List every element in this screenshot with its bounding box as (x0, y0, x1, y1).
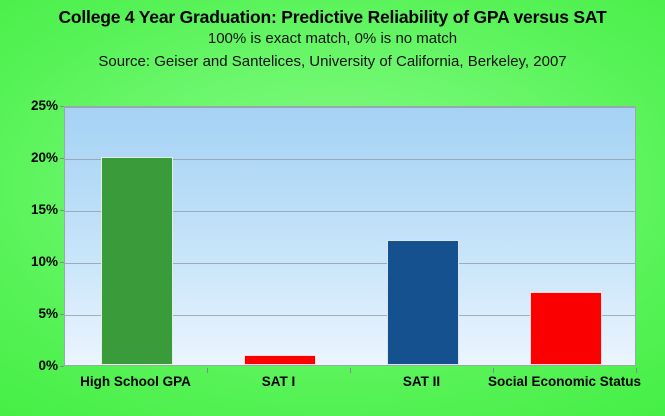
x-axis-tick-label: Social Economic Status (488, 374, 641, 389)
y-axis-tick-label: 5% (0, 306, 58, 321)
chart-root: College 4 Year Graduation: Predictive Re… (0, 0, 665, 416)
bar-high-school-gpa[interactable] (101, 157, 173, 365)
x-axis-tick-label: SAT II (403, 374, 440, 389)
bar-social-economic-status[interactable] (530, 292, 602, 365)
page-title: College 4 Year Graduation: Predictive Re… (0, 6, 665, 28)
plot-area (64, 106, 636, 366)
y-axis-tick-mark (60, 366, 64, 367)
x-axis-tick-mark (350, 368, 351, 373)
x-axis-tick-mark (207, 368, 208, 373)
chart-source-note: Source: Geiser and Santelices, Universit… (0, 50, 665, 73)
x-axis-tick-mark (636, 368, 637, 373)
bar-sat-ii[interactable] (387, 240, 459, 365)
x-axis: High School GPASAT ISAT IISocial Economi… (64, 368, 636, 398)
y-axis-tick-label: 20% (0, 150, 58, 165)
bar-sat-i[interactable] (244, 355, 316, 365)
chart-title-block: College 4 Year Graduation: Predictive Re… (0, 6, 665, 73)
y-axis-tick-label: 0% (0, 358, 58, 373)
y-axis-tick-label: 15% (0, 202, 58, 217)
x-axis-tick-label: SAT I (262, 374, 296, 389)
y-axis-tick-label: 10% (0, 254, 58, 269)
x-axis-tick-label: High School GPA (80, 374, 191, 389)
x-axis-tick-mark (493, 368, 494, 373)
chart-subtitle: 100% is exact match, 0% is no match (0, 28, 665, 50)
gridline (65, 107, 635, 108)
y-axis-tick-label: 25% (0, 98, 58, 113)
